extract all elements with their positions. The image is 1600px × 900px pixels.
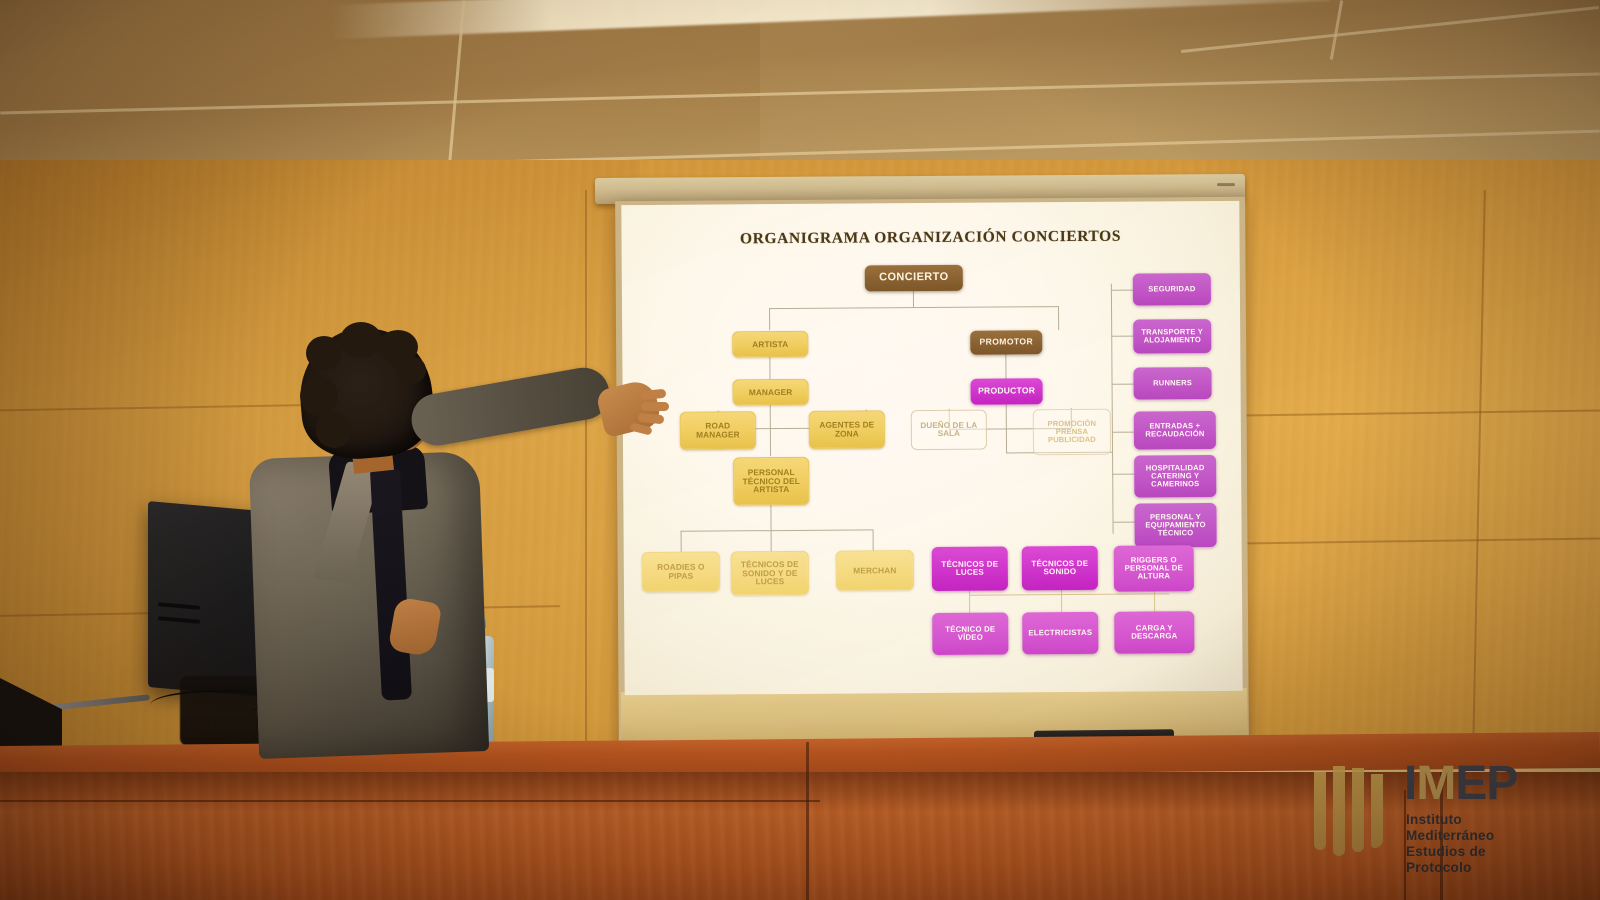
node-runners[interactable]: RUNNERS xyxy=(1133,367,1211,400)
roller-knob xyxy=(1217,183,1235,186)
shield-bar xyxy=(1352,768,1364,852)
node-road-manager[interactable]: ROAD MANAGER xyxy=(680,411,756,450)
logo-subtitle-line4: Protocolo xyxy=(1406,860,1494,876)
node-artista[interactable]: ARTISTA xyxy=(732,331,808,358)
connector xyxy=(1006,404,1007,428)
connector xyxy=(1006,428,1007,452)
desk-seam xyxy=(0,800,820,802)
connector xyxy=(771,530,772,552)
node-productor[interactable]: PRODUCTOR xyxy=(971,378,1043,405)
logo-subtitle: Instituto Mediterráneo Estudios de Proto… xyxy=(1406,812,1494,876)
logo-acronym: IMEP xyxy=(1404,760,1517,808)
connector xyxy=(1111,290,1133,291)
connector xyxy=(1113,522,1135,523)
ceiling-grid-line xyxy=(1330,0,1343,60)
connector xyxy=(969,593,1169,595)
connector xyxy=(770,504,771,530)
node-promocion-prensa[interactable]: PROMOCIÓN PRENSA PUBLICIDAD xyxy=(1033,409,1111,456)
hair-curl xyxy=(306,336,342,370)
connector xyxy=(1111,336,1133,337)
node-transporte-alojamiento[interactable]: TRANSPORTE Y ALOJAMIENTO xyxy=(1133,319,1211,354)
connector xyxy=(770,428,771,456)
logo-letters-ep: EP xyxy=(1455,757,1517,810)
slide-title: ORGANIGRAMA ORGANIZACIÓN CONCIERTOS xyxy=(621,227,1239,249)
connector xyxy=(1112,384,1134,385)
node-tecnicos-sonido-luces[interactable]: TÉCNICOS DE SONIDO Y DE LUCES xyxy=(731,551,809,596)
connector xyxy=(1111,284,1114,534)
logo-letter-m: M xyxy=(1416,757,1455,810)
node-promotor[interactable]: PROMOTOR xyxy=(970,330,1042,355)
hair-curl xyxy=(316,412,352,448)
node-merchan[interactable]: MERCHAN xyxy=(836,550,914,591)
connector xyxy=(1112,474,1134,475)
node-entradas-recaudacion[interactable]: ENTRADAS + RECAUDACIÓN xyxy=(1134,411,1216,450)
connector xyxy=(1058,306,1059,330)
connector xyxy=(681,531,682,553)
connector xyxy=(1112,432,1134,433)
logo-subtitle-line2: Mediterráneo xyxy=(1406,828,1494,844)
connector xyxy=(913,291,914,307)
logo-subtitle-line1: Instituto xyxy=(1406,812,1494,828)
node-personal-tecnico-artista[interactable]: PERSONAL TÉCNICO DEL ARTISTA xyxy=(733,457,809,506)
connector xyxy=(873,529,874,551)
desk-seam xyxy=(806,742,809,900)
hair-curl xyxy=(300,376,338,416)
lecture-hall-photo: ORGANIGRAMA ORGANIZACIÓN CONCIERTOS xyxy=(0,0,1600,900)
connector xyxy=(769,308,770,330)
node-manager[interactable]: MANAGER xyxy=(733,379,809,406)
ceiling-grid-line xyxy=(1181,6,1599,53)
shield-bar xyxy=(1333,766,1345,856)
shield-bar xyxy=(1371,774,1383,848)
node-riggers[interactable]: RIGGERS O PERSONAL DE ALTURA xyxy=(1114,545,1194,592)
presentation-slide: ORGANIGRAMA ORGANIZACIÓN CONCIERTOS xyxy=(621,201,1242,695)
logo-subtitle-line3: Estudios de xyxy=(1406,844,1494,860)
node-seguridad[interactable]: SEGURIDAD xyxy=(1133,273,1211,306)
node-personal-equipamiento-tecnico[interactable]: PERSONAL Y EQUIPAMIENTO TÉCNICO xyxy=(1134,503,1216,548)
finger xyxy=(641,402,669,411)
connector xyxy=(1005,354,1006,380)
node-tecnico-de-video[interactable]: TÉCNICO DE VÍDEO xyxy=(932,612,1008,655)
connector xyxy=(770,404,771,428)
hair-curl xyxy=(396,356,426,384)
shield-icon xyxy=(1312,766,1396,858)
node-tecnicos-de-sonido[interactable]: TÉCNICOS DE SONIDO xyxy=(1022,546,1098,591)
node-roadies[interactable]: ROADIES O PIPAS xyxy=(642,551,720,592)
node-hospitalidad-catering[interactable]: HOSPITALIDAD CATERING Y CAMERINOS xyxy=(1134,455,1216,498)
hair-curl xyxy=(340,322,382,358)
connector xyxy=(681,529,873,531)
connector xyxy=(769,306,1058,309)
node-concierto[interactable]: CONCIERTO xyxy=(865,265,963,292)
node-agentes-de-zona[interactable]: AGENTES DE ZONA xyxy=(809,410,885,449)
shield-bar xyxy=(1314,772,1326,850)
node-electricistas[interactable]: ELECTRICISTAS xyxy=(1022,612,1098,655)
logo-letter-i: I xyxy=(1404,757,1416,810)
imep-logo: IMEP Instituto Mediterráneo Estudios de … xyxy=(1312,760,1584,884)
node-tecnicos-de-luces[interactable]: TÉCNICOS DE LUCES xyxy=(932,546,1008,591)
connector xyxy=(769,356,770,380)
ceiling-light-strip xyxy=(330,0,1331,39)
node-dueno-de-la-sala[interactable]: DUEÑO DE LA SALA xyxy=(911,410,987,451)
node-carga-y-descarga[interactable]: CARGA Y DESCARGA xyxy=(1114,611,1194,654)
